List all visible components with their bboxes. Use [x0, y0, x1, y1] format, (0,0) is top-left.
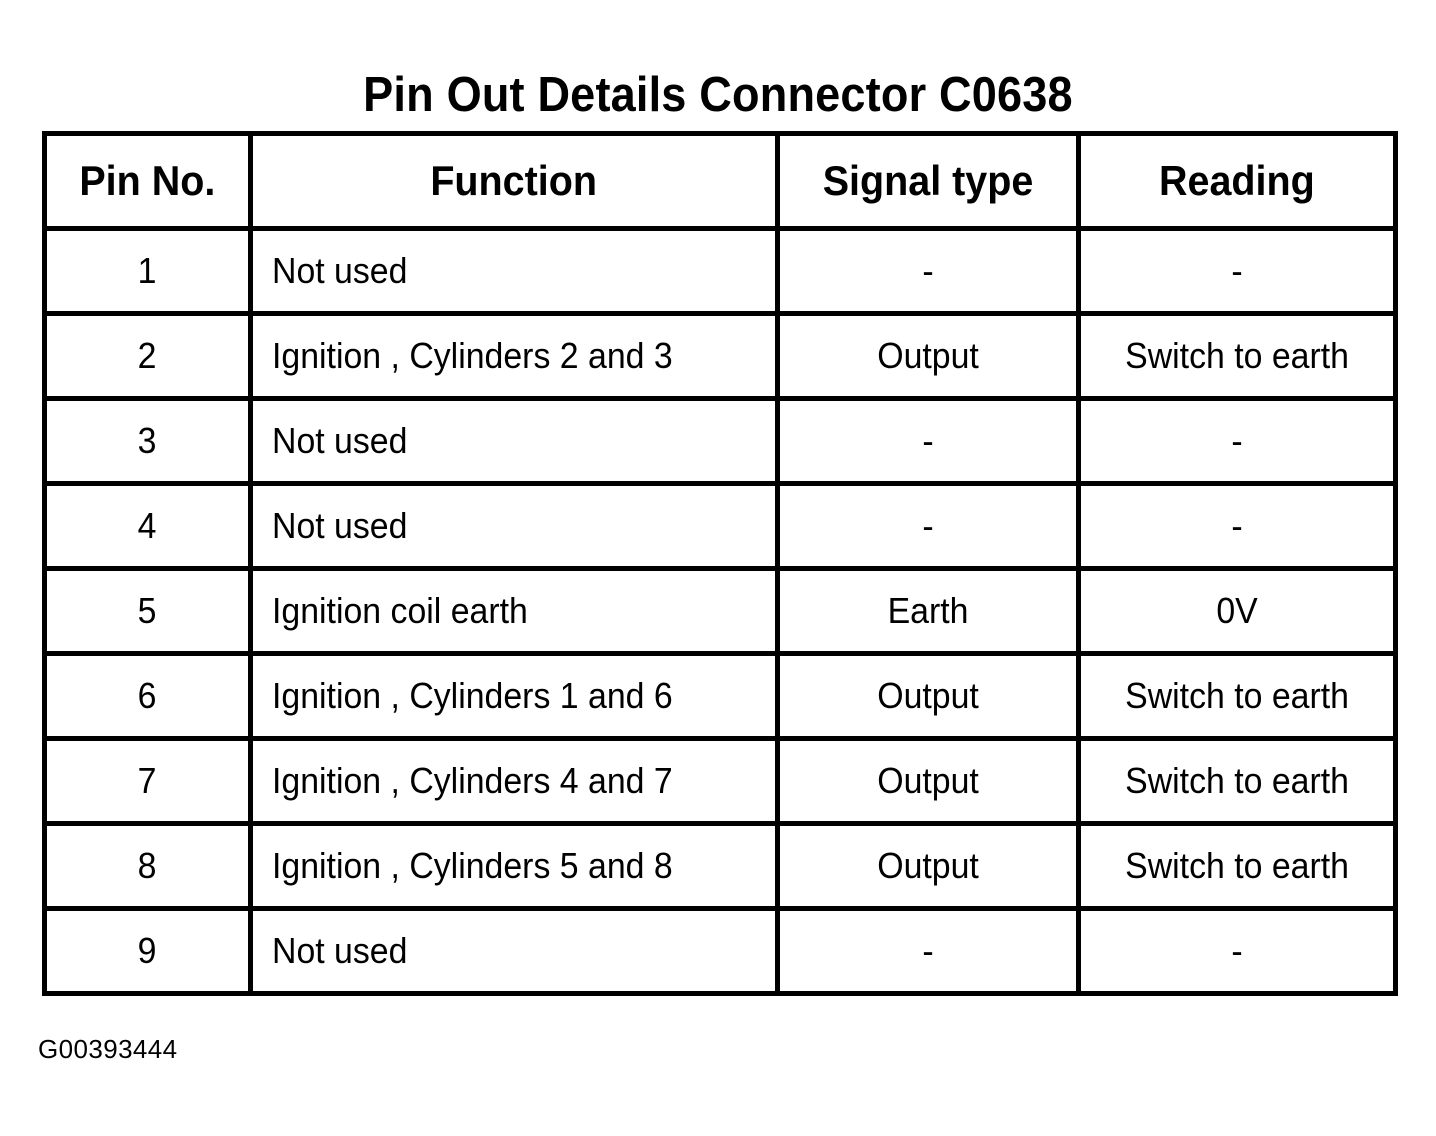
cell-function-text: Not used: [272, 506, 407, 546]
cell-function: Ignition , Cylinders 2 and 3: [250, 314, 777, 399]
cell-signal: -: [777, 399, 1078, 484]
table-body: 1Not used--2Ignition , Cylinders 2 and 3…: [45, 229, 1396, 994]
cell-pin: 7: [45, 739, 251, 824]
cell-signal: Output: [777, 824, 1078, 909]
cell-pin: 5: [45, 569, 251, 654]
cell-reading-text: -: [1231, 506, 1242, 546]
figure-reference-code: G00393444: [38, 1034, 178, 1064]
table-row: 2Ignition , Cylinders 2 and 3OutputSwitc…: [45, 314, 1396, 399]
table-header: Pin No. Function Signal type Reading: [45, 134, 1396, 229]
column-header-signal-type: Signal type: [777, 134, 1078, 229]
column-header-pin-no-label: Pin No.: [79, 158, 215, 204]
cell-pin-text: 3: [138, 421, 157, 461]
table-row: 8Ignition , Cylinders 5 and 8OutputSwitc…: [45, 824, 1396, 909]
cell-reading: -: [1078, 909, 1395, 994]
document-page: Pin Out Details Connector C0638 Pin No. …: [0, 0, 1436, 1136]
cell-pin: 9: [45, 909, 251, 994]
cell-reading: Switch to earth: [1078, 824, 1395, 909]
cell-pin: 8: [45, 824, 251, 909]
cell-function: Ignition , Cylinders 1 and 6: [250, 654, 777, 739]
table-row: 7Ignition , Cylinders 4 and 7OutputSwitc…: [45, 739, 1396, 824]
cell-reading-text: Switch to earth: [1125, 336, 1349, 376]
cell-function: Ignition , Cylinders 4 and 7: [250, 739, 777, 824]
column-header-signal-type-label: Signal type: [822, 158, 1033, 204]
cell-signal: -: [777, 229, 1078, 314]
cell-reading-text: Switch to earth: [1125, 761, 1349, 801]
table-row: 4Not used--: [45, 484, 1396, 569]
cell-signal: Output: [777, 314, 1078, 399]
column-header-reading: Reading: [1078, 134, 1395, 229]
page-title: Pin Out Details Connector C0638: [57, 66, 1378, 124]
cell-signal: -: [777, 909, 1078, 994]
cell-reading-text: 0V: [1216, 591, 1257, 631]
cell-reading-text: -: [1231, 251, 1242, 291]
table-row: 6Ignition , Cylinders 1 and 6OutputSwitc…: [45, 654, 1396, 739]
table-header-row: Pin No. Function Signal type Reading: [45, 134, 1396, 229]
table-row: 5Ignition coil earthEarth0V: [45, 569, 1396, 654]
cell-signal-text: -: [922, 506, 933, 546]
cell-signal-text: -: [922, 421, 933, 461]
cell-function-text: Not used: [272, 251, 407, 291]
cell-reading: -: [1078, 399, 1395, 484]
cell-pin-text: 6: [138, 676, 157, 716]
pinout-details-table: Pin No. Function Signal type Reading 1No…: [42, 131, 1398, 996]
cell-pin: 3: [45, 399, 251, 484]
cell-function-text: Not used: [272, 421, 407, 461]
cell-signal-text: Output: [877, 336, 979, 376]
cell-function-text: Ignition , Cylinders 1 and 6: [272, 676, 673, 716]
cell-reading: -: [1078, 229, 1395, 314]
cell-reading: Switch to earth: [1078, 739, 1395, 824]
cell-signal-text: Earth: [887, 591, 968, 631]
cell-signal: Output: [777, 739, 1078, 824]
cell-reading-text: Switch to earth: [1125, 676, 1349, 716]
cell-function: Ignition , Cylinders 5 and 8: [250, 824, 777, 909]
table-row: 3Not used--: [45, 399, 1396, 484]
column-header-function: Function: [250, 134, 777, 229]
cell-pin-text: 9: [138, 931, 157, 971]
table-row: 9Not used--: [45, 909, 1396, 994]
cell-pin: 1: [45, 229, 251, 314]
cell-signal-text: Output: [877, 676, 979, 716]
cell-signal: -: [777, 484, 1078, 569]
cell-function: Not used: [250, 484, 777, 569]
cell-function-text: Ignition coil earth: [272, 591, 528, 631]
cell-function-text: Ignition , Cylinders 4 and 7: [272, 761, 673, 801]
cell-reading: Switch to earth: [1078, 654, 1395, 739]
cell-reading: -: [1078, 484, 1395, 569]
cell-function: Not used: [250, 229, 777, 314]
cell-reading: Switch to earth: [1078, 314, 1395, 399]
cell-pin-text: 8: [138, 846, 157, 886]
table-row: 1Not used--: [45, 229, 1396, 314]
column-header-reading-label: Reading: [1159, 158, 1315, 204]
column-header-pin-no: Pin No.: [45, 134, 251, 229]
cell-function-text: Ignition , Cylinders 2 and 3: [272, 336, 673, 376]
cell-pin-text: 1: [138, 251, 157, 291]
cell-pin-text: 4: [138, 506, 157, 546]
cell-reading: 0V: [1078, 569, 1395, 654]
cell-pin: 4: [45, 484, 251, 569]
cell-reading-text: Switch to earth: [1125, 846, 1349, 886]
cell-signal: Earth: [777, 569, 1078, 654]
cell-signal-text: -: [922, 251, 933, 291]
cell-function: Ignition coil earth: [250, 569, 777, 654]
cell-pin: 6: [45, 654, 251, 739]
cell-function: Not used: [250, 909, 777, 994]
cell-reading-text: -: [1231, 931, 1242, 971]
cell-pin-text: 2: [138, 336, 157, 376]
cell-function: Not used: [250, 399, 777, 484]
cell-signal-text: Output: [877, 761, 979, 801]
cell-signal: Output: [777, 654, 1078, 739]
cell-reading-text: -: [1231, 421, 1242, 461]
cell-signal-text: Output: [877, 846, 979, 886]
cell-function-text: Not used: [272, 931, 407, 971]
cell-pin-text: 5: [138, 591, 157, 631]
cell-function-text: Ignition , Cylinders 5 and 8: [272, 846, 673, 886]
cell-signal-text: -: [922, 931, 933, 971]
cell-pin: 2: [45, 314, 251, 399]
cell-pin-text: 7: [138, 761, 157, 801]
column-header-function-label: Function: [430, 158, 597, 204]
